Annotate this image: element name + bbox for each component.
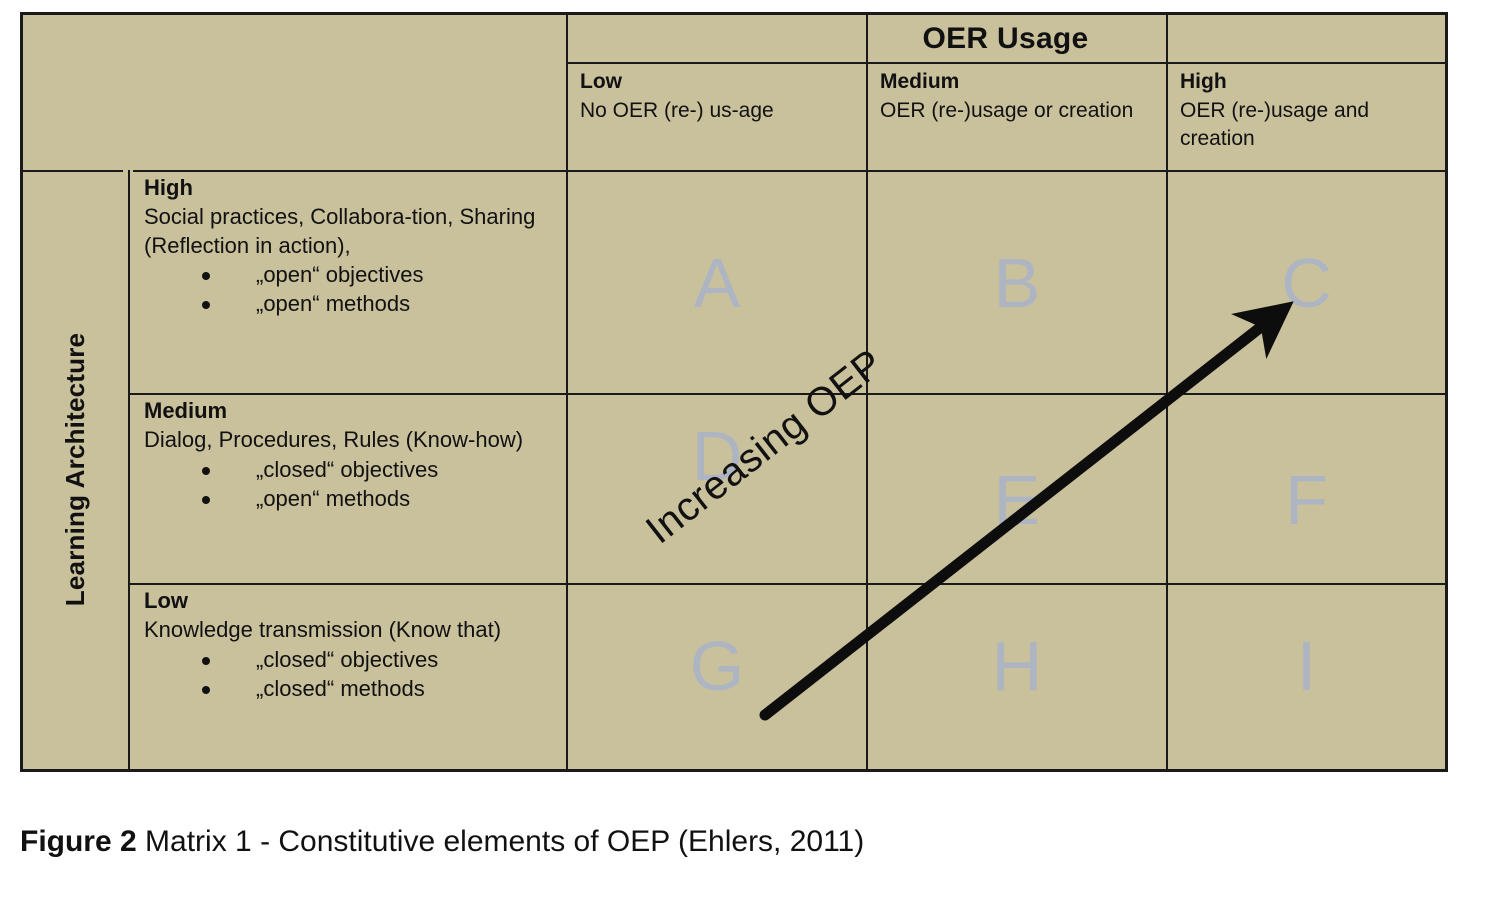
matrix-cell-g: G	[568, 583, 866, 773]
column-header-high: High OER (re-)usage and creation	[1168, 62, 1445, 170]
bullet-item: „closed“ objectives	[202, 645, 558, 674]
matrix-cell-f: F	[1168, 393, 1445, 583]
column-header-high-title: High	[1180, 68, 1435, 97]
column-header-medium-description: OER (re-)usage or creation	[880, 97, 1156, 126]
matrix-cell-a: A	[568, 170, 866, 393]
row-header-low-description: Knowledge transmission (Know that)	[144, 616, 558, 645]
figure-caption: Figure 2 Matrix 1 - Constitutive element…	[20, 825, 864, 859]
row-header-high-bullets: „open“ objectives „open“ methods	[144, 260, 558, 318]
row-header-low: Low Knowledge transmission (Know that) „…	[130, 583, 566, 773]
column-axis-title: OER Usage	[566, 15, 1445, 62]
matrix-cell-b: B	[868, 170, 1166, 393]
row-axis-title: Learning Architecture	[23, 170, 128, 769]
matrix-cell-h: H	[868, 583, 1166, 773]
row-header-medium-title: Medium	[144, 397, 558, 426]
row-header-medium: Medium Dialog, Procedures, Rules (Know-h…	[130, 393, 566, 583]
figure-caption-label: Figure 2	[20, 825, 137, 858]
figure-container: OER Usage Low No OER (re-) us-age Medium…	[0, 0, 1488, 904]
column-header-low: Low No OER (re-) us-age	[568, 62, 866, 170]
column-header-low-title: Low	[580, 68, 856, 97]
column-header-low-description: No OER (re-) us-age	[580, 97, 856, 126]
oep-matrix-table: OER Usage Low No OER (re-) us-age Medium…	[20, 12, 1448, 772]
bullet-item: „open“ methods	[202, 289, 558, 318]
figure-caption-text: Matrix 1 - Constitutive elements of OEP …	[145, 825, 864, 858]
row-axis-title-text: Learning Architecture	[60, 333, 91, 606]
matrix-cell-c: C	[1168, 170, 1445, 393]
matrix-cell-e: E	[868, 393, 1166, 583]
row-header-high-description: Social practices, Collabora-tion, Sharin…	[144, 203, 558, 261]
bullet-item: „closed“ objectives	[202, 455, 558, 484]
row-header-low-bullets: „closed“ objectives „closed“ methods	[144, 645, 558, 703]
row-header-low-title: Low	[144, 587, 558, 616]
column-header-medium: Medium OER (re-)usage or creation	[868, 62, 1166, 170]
matrix-cell-i: I	[1168, 583, 1445, 773]
bullet-item: „closed“ methods	[202, 674, 558, 703]
bullet-item: „open“ methods	[202, 484, 558, 513]
bullet-item: „open“ objectives	[202, 260, 558, 289]
row-header-medium-description: Dialog, Procedures, Rules (Know-how)	[144, 426, 558, 455]
column-header-medium-title: Medium	[880, 68, 1156, 97]
row-header-medium-bullets: „closed“ objectives „open“ methods	[144, 455, 558, 513]
column-header-high-description: OER (re-)usage and creation	[1180, 97, 1435, 154]
row-header-high-title: High	[144, 174, 558, 203]
row-header-high: High Social practices, Collabora-tion, S…	[130, 170, 566, 393]
